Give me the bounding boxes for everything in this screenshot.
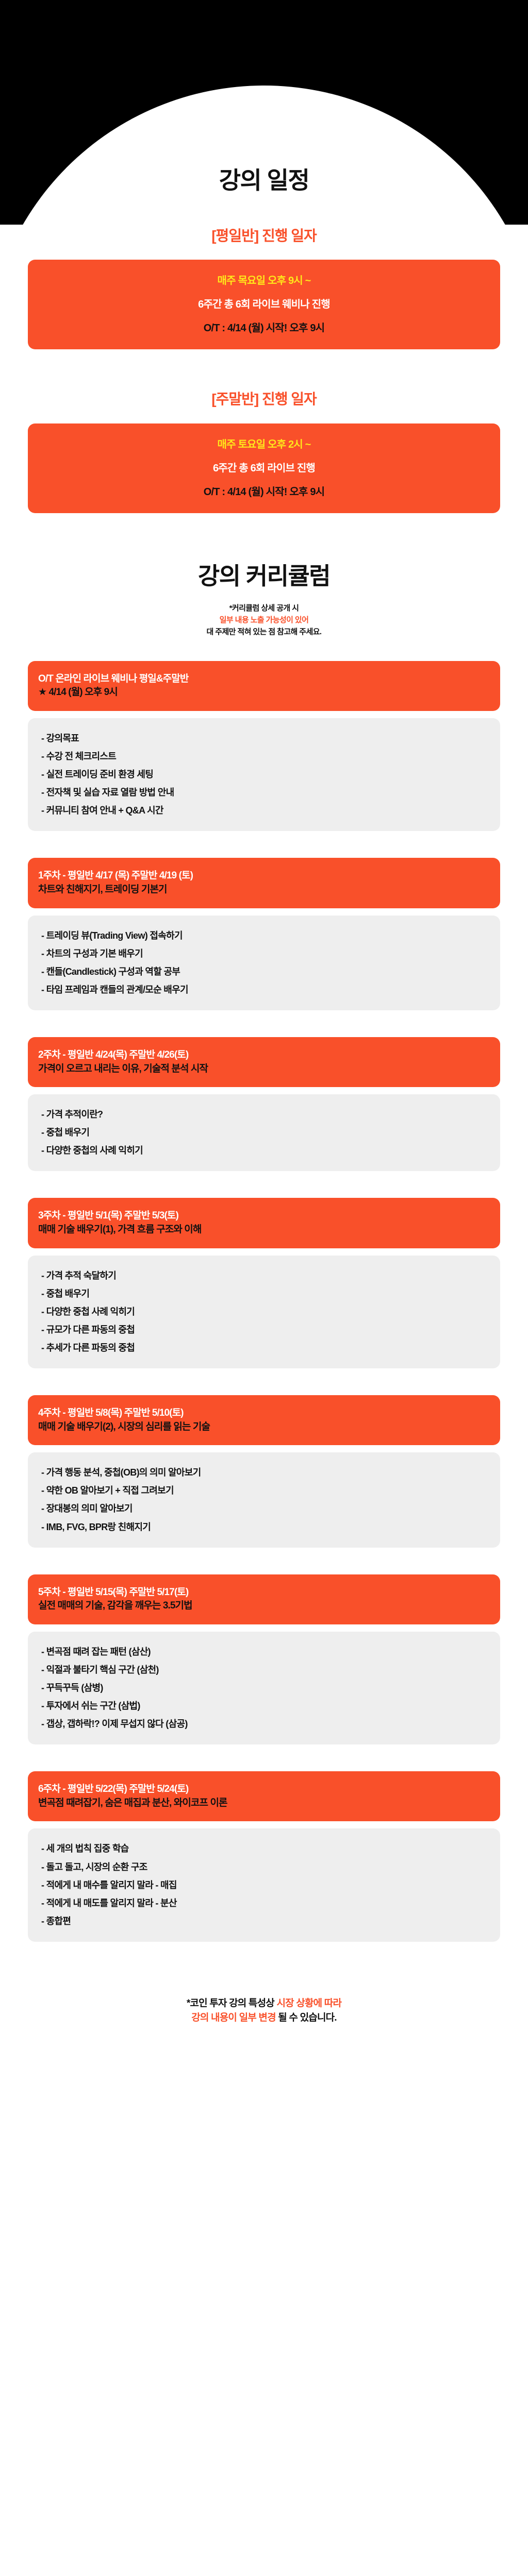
footer-line1-plain: *코인 투자 강의 특성상 [187, 1998, 277, 2009]
week-spacer [0, 1744, 528, 1771]
weekend-schedule-card: 매주 토요일 오후 2시 ~ 6주간 총 6회 라이브 진행 O/T : 4/1… [28, 423, 500, 513]
curriculum-disclaimer-line-1: *커리큘럼 상세 공개 시 [0, 602, 528, 614]
page-title-curriculum: 강의 커리큘럼 [0, 563, 528, 590]
week-content-card: - 가격 추적 숙달하기- 중첩 배우기- 다양한 중첩 사례 익히기- 규모가… [28, 1256, 500, 1368]
weekend-ot-line: O/T : 4/14 (월) 시작! 오후 9시 [39, 484, 489, 500]
week-bullet-item: - 캔들(Candlestick) 구성과 역할 공부 [41, 963, 487, 981]
weekend-sessions-line: 6주간 총 6회 라이브 진행 [39, 461, 489, 476]
week-bullet-item: - 익절과 불타기 핵심 구간 (삼천) [41, 1661, 487, 1679]
week-bullet-item: - 돌고 돌고, 시장의 순환 구조 [41, 1858, 487, 1876]
curriculum-week-block: O/T 온라인 라이브 웨비나 평일&주말반★ 4/14 (월) 오후 9시- … [0, 661, 528, 858]
week-bullet-item: - 변곡점 때려 잡는 패턴 (삼산) [41, 1643, 487, 1661]
week-bullet-item: - 약한 OB 알아보기 + 직접 그려보기 [41, 1482, 487, 1500]
footer-disclaimer: *코인 투자 강의 특성상 시장 상황에 따라 강의 내용이 일부 변경 될 수… [0, 1996, 528, 2026]
curriculum-disclaimer-line-2: 일부 내용 노출 가능성이 있어 [0, 614, 528, 626]
curriculum-week-block: 2주차 - 평일반 4/24(목) 주말반 4/26(토)가격이 오르고 내리는… [0, 1037, 528, 1198]
hero-dome-shape [0, 86, 528, 225]
week-date-line: 5주차 - 평일반 5/15(목) 주말반 5/17(토) [38, 1586, 490, 1600]
week-bullet-item: - IMB, FVG, BPR랑 친해지기 [41, 1518, 487, 1536]
week-content-card: - 가격 추적이란?- 중첩 배우기- 다양한 중첩의 사례 익히기 [28, 1094, 500, 1171]
week-bullet-item: - 전자책 및 실습 자료 열람 방법 안내 [41, 784, 487, 802]
week-spacer [0, 1010, 528, 1037]
week-date-line: 1주차 - 평일반 4/17 (목) 주말반 4/19 (토) [38, 869, 490, 883]
week-date-line: O/T 온라인 라이브 웨비나 평일&주말반 [38, 672, 490, 686]
week-spacer [0, 1548, 528, 1574]
week-bullet-item: - 적에게 내 매수를 알리지 말라 - 매집 [41, 1876, 487, 1894]
week-bullet-item: - 다양한 중첩 사례 익히기 [41, 1303, 487, 1321]
week-bullet-item: - 장대봉의 의미 알아보기 [41, 1500, 487, 1518]
page-content: 강의 일정 [평일반] 진행 일자 매주 목요일 오후 9시 ~ 6주간 총 6… [0, 167, 528, 2046]
week-bullet-item: - 추세가 다른 파동의 중첩 [41, 1339, 487, 1357]
week-header-card: 1주차 - 평일반 4/17 (목) 주말반 4/19 (토)차트와 친해지기,… [28, 858, 500, 908]
week-header-card: 4주차 - 평일반 5/8(목) 주말반 5/10(토)매매 기술 배우기(2)… [28, 1395, 500, 1445]
week-date-line: 6주차 - 평일반 5/22(목) 주말반 5/24(토) [38, 1783, 490, 1797]
week-spacer [0, 1171, 528, 1198]
week-bullet-item: - 적에게 내 매도를 알리지 말라 - 분산 [41, 1894, 487, 1912]
curriculum-disclaimer: *커리큘럼 상세 공개 시 일부 내용 노출 가능성이 있어 대 주제만 적혀 … [0, 602, 528, 638]
week-header-card: 5주차 - 평일반 5/15(목) 주말반 5/17(토)실전 매매의 기술, … [28, 1574, 500, 1624]
week-bullet-item: - 종합편 [41, 1912, 487, 1930]
week-spacer [0, 831, 528, 858]
week-bullet-item: - 트레이딩 뷰(Trading View) 접속하기 [41, 927, 487, 945]
week-content-card: - 가격 행동 분석, 중첩(OB)의 의미 알아보기- 약한 OB 알아보기 … [28, 1452, 500, 1547]
week-content-card: - 트레이딩 뷰(Trading View) 접속하기- 차트의 구성과 기본 … [28, 916, 500, 1010]
week-bullet-item: - 규모가 다른 파동의 중첩 [41, 1321, 487, 1339]
week-bullet-item: - 커뮤니티 참여 안내 + Q&A 시간 [41, 802, 487, 820]
curriculum-week-block: 3주차 - 평일반 5/1(목) 주말반 5/3(토)매매 기술 배우기(1),… [0, 1198, 528, 1395]
week-bullet-item: - 갭상, 갭하락!? 이제 무섭지 않다 (삼공) [41, 1715, 487, 1733]
week-bullet-item: - 수강 전 체크리스트 [41, 748, 487, 766]
week-content-card: - 세 개의 법칙 집중 학습- 돌고 돌고, 시장의 순환 구조- 적에게 내… [28, 1828, 500, 1941]
week-bullet-item: - 실전 트레이딩 준비 환경 세팅 [41, 766, 487, 784]
week-bullet-item: - 세 개의 법칙 집중 학습 [41, 1840, 487, 1858]
week-date-line: 3주차 - 평일반 5/1(목) 주말반 5/3(토) [38, 1209, 490, 1223]
week-header-card: 2주차 - 평일반 4/24(목) 주말반 4/26(토)가격이 오르고 내리는… [28, 1037, 500, 1087]
week-date-line: 2주차 - 평일반 4/24(목) 주말반 4/26(토) [38, 1048, 490, 1062]
footer-line2-plain: 될 수 있습니다. [276, 2012, 337, 2023]
curriculum-week-block: 5주차 - 평일반 5/15(목) 주말반 5/17(토)실전 매매의 기술, … [0, 1574, 528, 1772]
week-spacer [0, 1942, 528, 1969]
week-topic-line: 차트와 친해지기, 트레이딩 기본기 [38, 883, 490, 897]
week-bullet-item: - 중첩 배우기 [41, 1124, 487, 1142]
week-topic-line: 매매 기술 배우기(2), 시장의 심리를 읽는 기술 [38, 1420, 490, 1434]
footer-line1-highlight: 시장 상황에 따라 [276, 1998, 341, 2009]
page-title-schedule: 강의 일정 [0, 167, 528, 194]
weekday-time-line: 매주 목요일 오후 9시 ~ [39, 273, 489, 289]
weekend-time-line: 매주 토요일 오후 2시 ~ [39, 437, 489, 452]
weekday-class-label: [평일반] 진행 일자 [0, 227, 528, 245]
curriculum-week-block: 1주차 - 평일반 4/17 (목) 주말반 4/19 (토)차트와 친해지기,… [0, 858, 528, 1037]
week-bullet-item: - 가격 추적 숙달하기 [41, 1267, 487, 1285]
week-bullet-item: - 중첩 배우기 [41, 1285, 487, 1303]
week-bullet-item: - 차트의 구성과 기본 배우기 [41, 945, 487, 963]
week-bullet-item: - 가격 행동 분석, 중첩(OB)의 의미 알아보기 [41, 1464, 487, 1482]
week-topic-line: 가격이 오르고 내리는 이유, 기술적 분석 시작 [38, 1062, 490, 1076]
week-header-card: 6주차 - 평일반 5/22(목) 주말반 5/24(토)변곡점 때려잡기, 숨… [28, 1771, 500, 1821]
week-content-card: - 강의목표- 수강 전 체크리스트- 실전 트레이딩 준비 환경 세팅- 전자… [28, 718, 500, 831]
week-bullet-item: - 가격 추적이란? [41, 1106, 487, 1124]
curriculum-week-list: O/T 온라인 라이브 웨비나 평일&주말반★ 4/14 (월) 오후 9시- … [0, 661, 528, 1969]
week-content-card: - 변곡점 때려 잡는 패턴 (삼산)- 익절과 불타기 핵심 구간 (삼천)-… [28, 1632, 500, 1744]
week-spacer [0, 1368, 528, 1395]
week-bullet-item: - 타임 프레임과 캔들의 관계/모순 배우기 [41, 981, 487, 999]
week-bullet-item: - 꾸득꾸득 (삼병) [41, 1679, 487, 1697]
curriculum-disclaimer-line-3: 대 주제만 적혀 있는 점 참고해 주세요. [0, 626, 528, 638]
week-topic-line: 변곡점 때려잡기, 숨은 매집과 분산, 와이코프 이론 [38, 1797, 490, 1810]
week-bullet-item: - 강의목표 [41, 730, 487, 748]
week-header-card: 3주차 - 평일반 5/1(목) 주말반 5/3(토)매매 기술 배우기(1),… [28, 1198, 500, 1248]
weekday-ot-line: O/T : 4/14 (월) 시작! 오후 9시 [39, 320, 489, 336]
week-bullet-item: - 다양한 중첩의 사례 익히기 [41, 1142, 487, 1160]
curriculum-week-block: 4주차 - 평일반 5/8(목) 주말반 5/10(토)매매 기술 배우기(2)… [0, 1395, 528, 1574]
week-topic-line: 매매 기술 배우기(1), 가격 흐름 구조와 이해 [38, 1223, 490, 1237]
week-topic-line: ★ 4/14 (월) 오후 9시 [38, 686, 490, 700]
weekend-class-label: [주말반] 진행 일자 [0, 391, 528, 408]
week-header-card: O/T 온라인 라이브 웨비나 평일&주말반★ 4/14 (월) 오후 9시 [28, 661, 500, 711]
week-topic-line: 실전 매매의 기술, 감각을 깨우는 3.5기법 [38, 1599, 490, 1613]
weekday-sessions-line: 6주간 총 6회 라이브 웨비나 진행 [39, 297, 489, 312]
footer-line2-highlight: 강의 내용이 일부 변경 [191, 2012, 276, 2023]
curriculum-week-block: 6주차 - 평일반 5/22(목) 주말반 5/24(토)변곡점 때려잡기, 숨… [0, 1771, 528, 1969]
week-bullet-item: - 투자에서 쉬는 구간 (삼법) [41, 1697, 487, 1715]
week-date-line: 4주차 - 평일반 5/8(목) 주말반 5/10(토) [38, 1406, 490, 1420]
weekday-schedule-card: 매주 목요일 오후 9시 ~ 6주간 총 6회 라이브 웨비나 진행 O/T :… [28, 260, 500, 349]
